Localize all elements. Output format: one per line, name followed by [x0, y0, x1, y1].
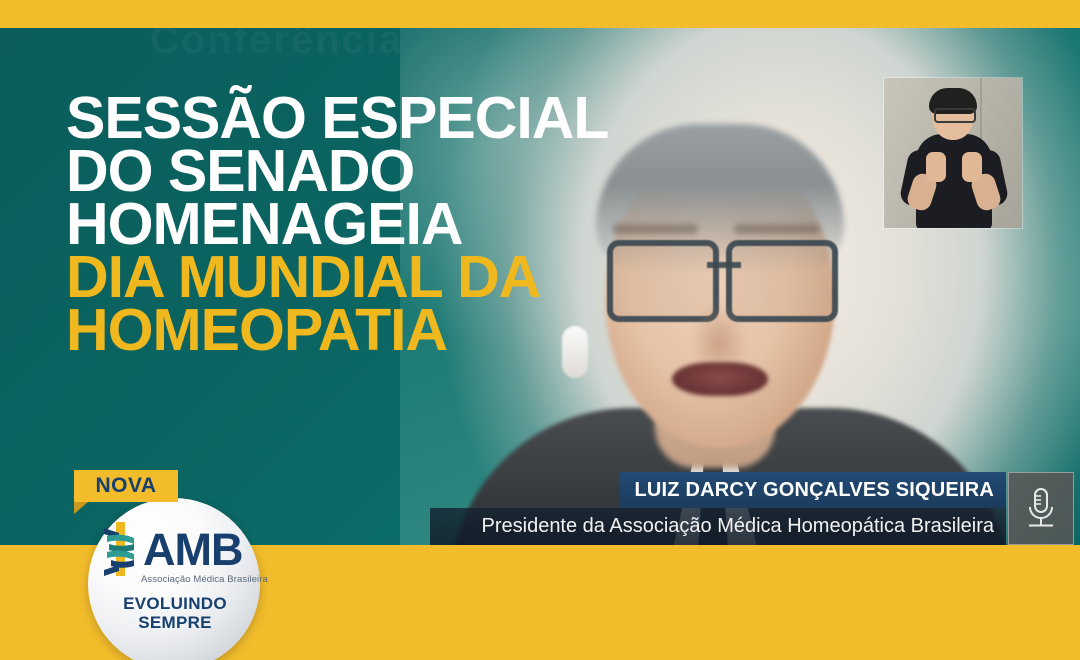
interpreter-glasses [934, 108, 976, 123]
speaker-eyebrow-left [612, 224, 698, 234]
amb-tagline: EVOLUINDO SEMPRE [92, 594, 258, 632]
speaker-nose [690, 304, 748, 360]
interpreter-hand-left [926, 152, 946, 182]
interpreter-hand-right [962, 152, 982, 182]
libras-interpreter-pip [884, 78, 1022, 228]
amb-tagline-line-1: EVOLUINDO [92, 594, 258, 613]
speaker-mouth [672, 362, 768, 396]
amb-acronym: AMB [143, 527, 242, 572]
broadcast-slide: Conferência virtual transmissão [0, 0, 1080, 660]
nova-badge: NOVA [74, 470, 178, 502]
headline-line-5: HOMEOPATIA [66, 304, 586, 357]
nova-label: NOVA [95, 474, 156, 498]
glasses-bridge [707, 262, 741, 268]
speaker-eyebrow-right [734, 224, 820, 234]
amb-full-name: Associação Médica Brasileira [141, 574, 271, 585]
amb-logo-row: AMB [98, 520, 258, 578]
top-yellow-bar [0, 0, 1080, 28]
headline: SESSÃO ESPECIAL DO SENADO HOMENAGEIA DIA… [66, 92, 586, 357]
speaker-glasses [605, 240, 840, 314]
amb-logo-badge: AMB Associação Médica Brasileira EVOLUIN… [78, 488, 268, 660]
amb-tagline-line-2: SEMPRE [92, 613, 258, 632]
caduceus-icon [98, 520, 142, 578]
